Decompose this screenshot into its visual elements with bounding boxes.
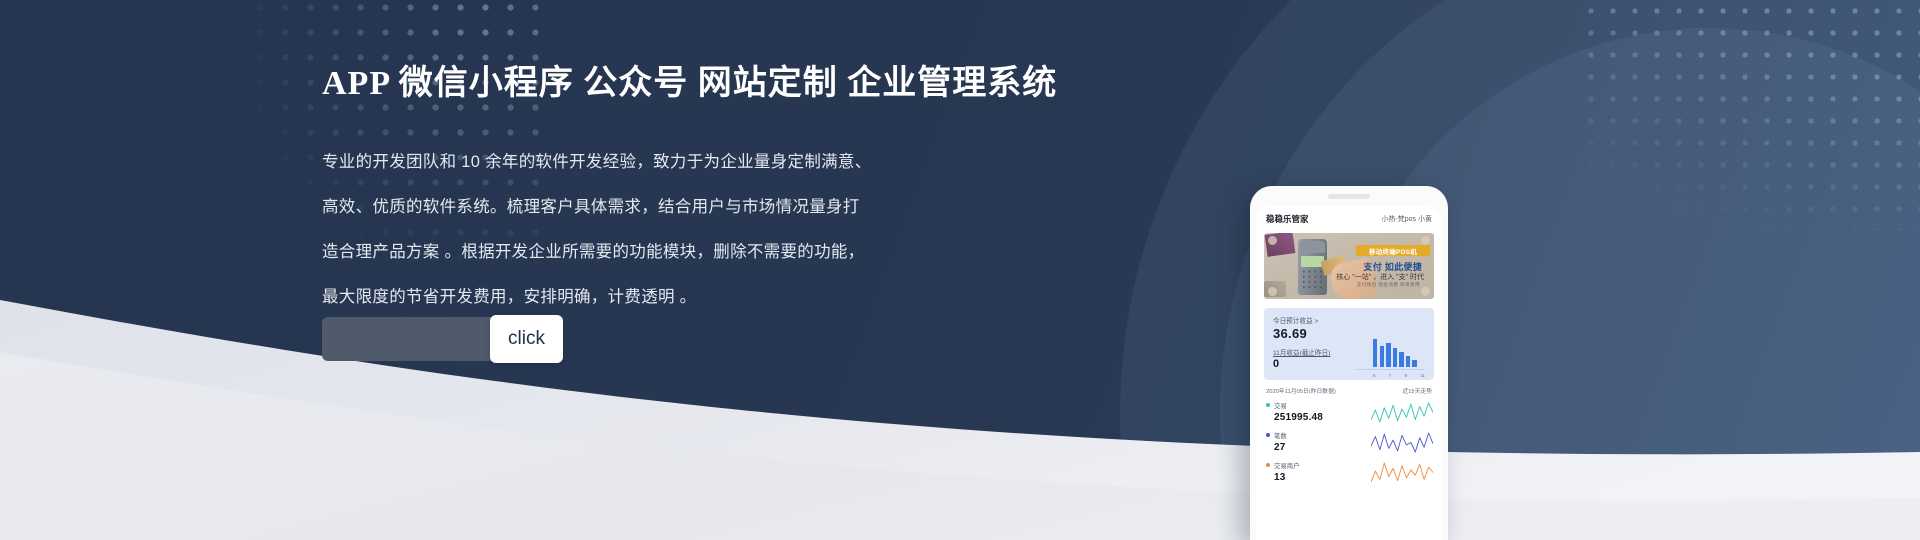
hero-description: 专业的开发团队和 10 余年的软件开发经验，致力于为企业量身定制满意、 高效、优…: [322, 140, 1122, 320]
app-header: 稳稳乐管家 小热-梵pos 小黄: [1256, 206, 1442, 231]
click-button[interactable]: click: [490, 315, 563, 363]
hero-copy: APP 微信小程序 公众号 网站定制 企业管理系统 专业的开发团队和 10 余年…: [322, 62, 1122, 320]
income-bar-chart: [1373, 337, 1425, 367]
income-chart-ticks: 57911: [1373, 373, 1425, 378]
income-card[interactable]: 今日预计收益 > 36.69 11月收益(截止昨日) 0 57911: [1264, 308, 1434, 380]
trend-meta-row: 2020年11月05日(昨日数据) 近15天走势: [1256, 380, 1442, 398]
metric-value: 13: [1274, 472, 1300, 483]
hero-banner: APP 微信小程序 公众号 网站定制 企业管理系统 专业的开发团队和 10 余年…: [0, 0, 1920, 540]
dot-pattern-bottom-left: [0, 330, 320, 540]
banner-corner-icon: [1268, 287, 1277, 296]
hero-description-line-3: 造合理产品方案 。根据开发企业所需要的功能模块，删除不需要的功能，: [322, 230, 1122, 275]
phone-speaker: [1328, 194, 1370, 199]
search-row: click: [322, 317, 562, 361]
promo-banner[interactable]: 移动终端POS机 支付 如此便捷 核心 "一站" ，进入 "支" 时代 支付钱包…: [1264, 233, 1434, 299]
phone-fade-overlay: [1256, 494, 1442, 540]
hero-description-line-2: 高效、优质的软件系统。梳理客户具体需求，结合用户与市场情况量身打: [322, 185, 1122, 230]
today-income-label: 今日预计收益 >: [1273, 315, 1425, 325]
banner-subtitle: 核心 "一站" ，进入 "支" 时代: [1336, 272, 1424, 282]
decorative-ring-outer: [1120, 0, 1920, 540]
income-chart-axis: [1355, 369, 1425, 370]
metric-label: 笔数: [1274, 431, 1287, 440]
app-user-label: 小热-梵pos 小黄: [1381, 214, 1432, 224]
phone-mockup: 稳稳乐管家 小热-梵pos 小黄 移动终端POS机: [1250, 186, 1448, 540]
data-date-label: 2020年11月05日(昨日数据): [1266, 386, 1336, 395]
banner-tag: 移动终端POS机: [1356, 245, 1430, 256]
banner-corner-icon: [1421, 236, 1430, 245]
banner-corner-icon: [1268, 236, 1277, 245]
metric-color-dot: [1266, 463, 1270, 467]
banner-footnote: 支付钱包 现金消费 简单易用: [1357, 282, 1420, 288]
metric-label: 交易商户: [1274, 461, 1300, 470]
dot-pattern-top-right: [1580, 0, 1920, 230]
metric-color-dot: [1266, 433, 1270, 437]
metric-sparkline: [1371, 429, 1433, 455]
metric-value: 251995.48: [1274, 412, 1323, 423]
metric-row[interactable]: 交易商户 13: [1256, 458, 1442, 488]
metric-label: 交易: [1274, 401, 1323, 410]
metric-value: 27: [1274, 442, 1287, 453]
page-title: APP 微信小程序 公众号 网站定制 企业管理系统: [322, 62, 1122, 106]
metric-sparkline: [1371, 459, 1433, 485]
trend-period-label: 近15天走势: [1402, 386, 1432, 395]
app-title: 稳稳乐管家: [1266, 213, 1309, 225]
metric-row[interactable]: 交易 251995.48: [1256, 398, 1442, 428]
banner-corner-icon: [1421, 287, 1430, 296]
metric-color-dot: [1266, 403, 1270, 407]
hero-description-line-1: 专业的开发团队和 10 余年的软件开发经验，致力于为企业量身定制满意、: [322, 140, 1122, 185]
metric-row[interactable]: 笔数 27: [1256, 428, 1442, 458]
banner-tag-label: 移动终端POS机: [1369, 246, 1417, 256]
metric-sparkline: [1371, 399, 1433, 425]
hero-description-line-4: 最大限度的节省开发费用，安排明确，计费透明 。: [322, 275, 1122, 320]
phone-screen: 稳稳乐管家 小热-梵pos 小黄 移动终端POS机: [1256, 206, 1442, 540]
